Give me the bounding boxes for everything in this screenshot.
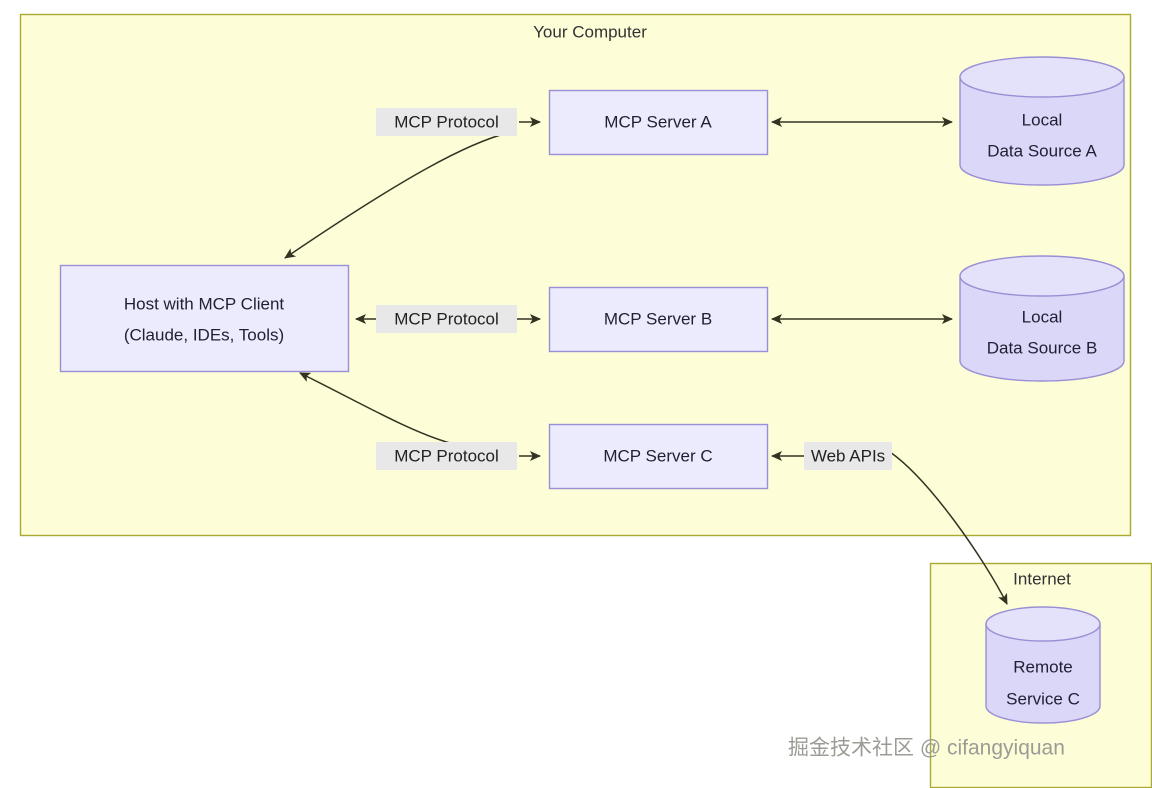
edge-label-host-to-server-a: MCP Protocol [376,108,517,136]
node-local-data-source-a-line1: Local [1022,110,1063,129]
group-internet-label: Internet [1013,569,1071,588]
node-local-data-source-a-line2: Data Source A [987,141,1097,160]
node-local-data-source-b-line1: Local [1022,307,1063,326]
edge-label-host-to-server-c: MCP Protocol [376,442,517,470]
edge-label-web-apis: Web APIs [804,442,892,470]
edge-label-host-to-server-c-text: MCP Protocol [394,446,499,465]
node-mcp-server-b-label: MCP Server B [604,309,712,328]
watermark-label: 掘金技术社区 @ cifangyiquan [788,737,1065,760]
node-host-label-line1: Host with MCP Client [124,294,285,313]
node-remote-service-c[interactable]: Remote Service C [986,607,1100,723]
node-remote-service-c-line2: Service C [1006,689,1080,708]
edge-label-host-to-server-b: MCP Protocol [376,305,517,333]
node-mcp-server-a-label: MCP Server A [604,112,712,131]
node-mcp-server-c-label: MCP Server C [603,446,712,465]
edge-label-web-apis-text: Web APIs [811,446,885,465]
node-mcp-server-c[interactable]: MCP Server C [550,425,768,489]
node-local-data-source-b[interactable]: Local Data Source B [960,256,1124,381]
node-mcp-server-a[interactable]: MCP Server A [550,91,768,155]
node-host-with-mcp-client[interactable]: Host with MCP Client (Claude, IDEs, Tool… [61,266,349,372]
group-your-computer-label: Your Computer [533,22,647,41]
edge-label-host-to-server-b-text: MCP Protocol [394,309,499,328]
node-mcp-server-b[interactable]: MCP Server B [550,288,768,352]
node-local-data-source-b-line2: Data Source B [987,338,1098,357]
mcp-architecture-diagram: Your Computer Internet Server B --> Data… [0,0,1152,788]
edge-label-host-to-server-a-text: MCP Protocol [394,112,499,131]
diagram-canvas: Your Computer Internet Server B --> Data… [0,0,1152,788]
node-host-label-line2: (Claude, IDEs, Tools) [124,325,284,344]
node-local-data-source-a[interactable]: Local Data Source A [960,57,1124,185]
node-remote-service-c-line1: Remote [1013,657,1073,676]
